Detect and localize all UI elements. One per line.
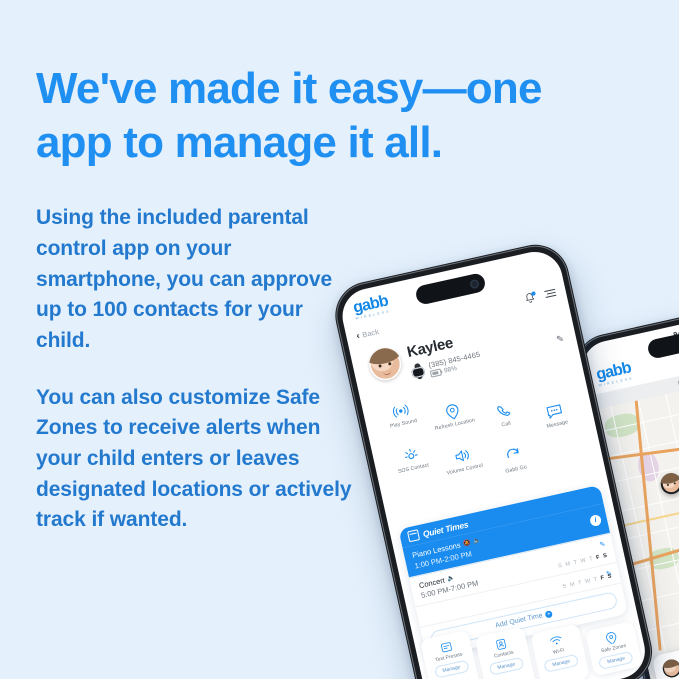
marketing-copy: We've made it easy—one app to manage it … — [36, 62, 596, 562]
tile-safe-zones[interactable]: Safe Zones Manage — [585, 621, 643, 677]
day-selector[interactable]: S M T W T F S — [562, 573, 613, 590]
tile-text-presets[interactable]: Text Presets Manage — [420, 630, 484, 679]
paragraph-one: Using the included parental control app … — [36, 203, 342, 356]
page-title: We've made it easy—one app to manage it … — [36, 62, 586, 169]
tile-wifi[interactable]: Wi-Fi Manage — [530, 624, 590, 679]
mute-icon: 🔈 — [447, 574, 456, 582]
edit-icon[interactable]: ✎ — [599, 540, 606, 549]
paragraph-two: You can also customize Safe Zones to rec… — [36, 383, 352, 536]
gabb-logo: gabb WIRELESS — [595, 360, 634, 387]
tile-contacts[interactable]: Contacts Manage — [475, 627, 537, 679]
avatar — [661, 657, 679, 678]
page-background: We've made it easy—one app to manage it … — [0, 0, 679, 679]
